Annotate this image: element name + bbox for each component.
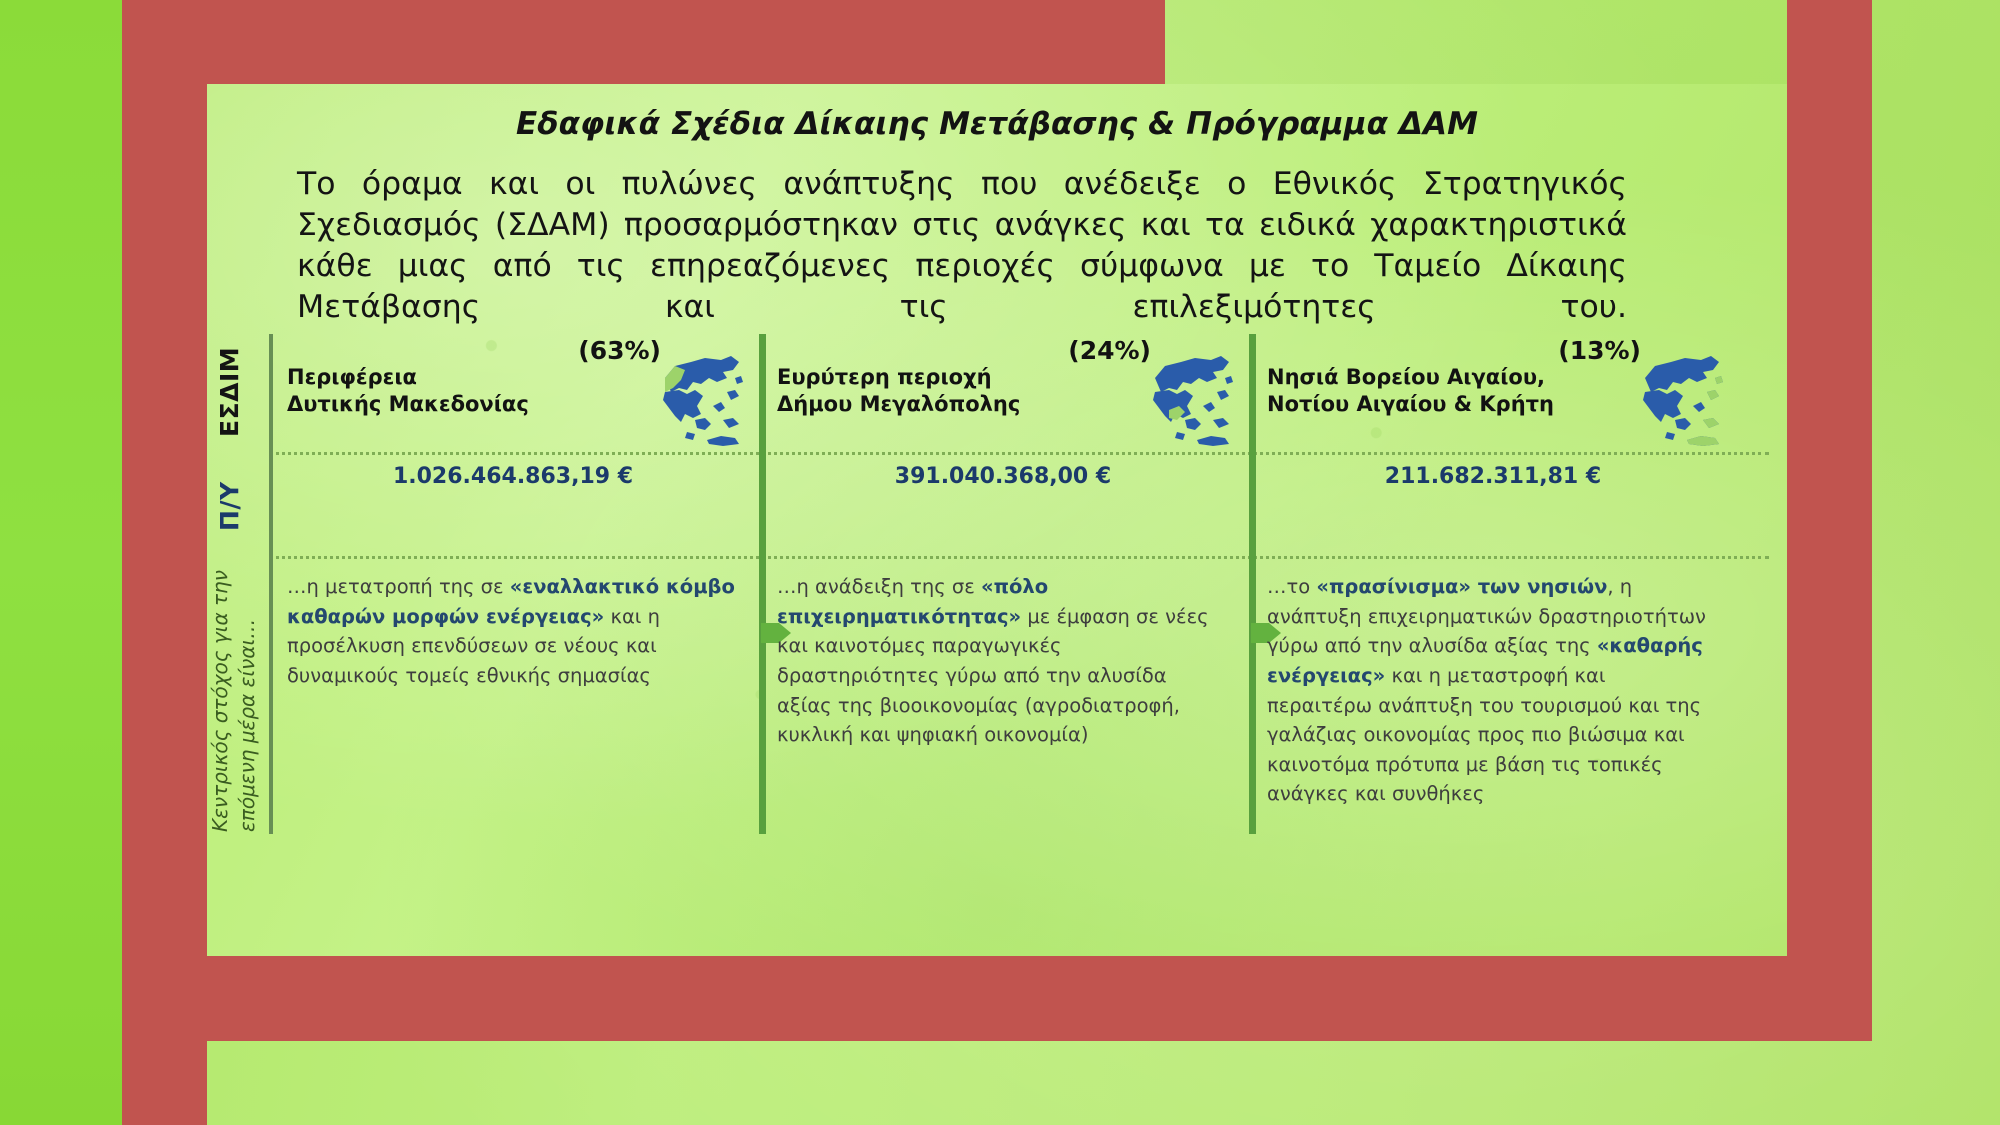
column-budget-2: 391.040.368,00 € [777, 464, 1229, 489]
column-divider-1 [269, 334, 273, 834]
column-header-1: Περιφέρεια Δυτικής Μακεδονίας (63%) [287, 342, 739, 452]
column-header-2: Ευρύτερη περιοχή Δήμου Μεγαλόπολης (24%) [777, 342, 1229, 452]
column-title-2: Ευρύτερη περιοχή Δήμου Μεγαλόπολης [777, 364, 1067, 419]
row-separator-1 [269, 452, 1769, 455]
row-label-goal: Κεντρικός στόχος για την επόμενη μέρα εί… [207, 564, 277, 832]
body-text: …η μετατροπή της σε [287, 575, 510, 598]
greece-map-megalopoli-icon [1125, 348, 1235, 452]
row-label-budget: Π/Υ [215, 456, 269, 556]
column-header-3: Νησιά Βορείου Αιγαίου, Νοτίου Αιγαίου & … [1267, 342, 1719, 452]
greece-map-islands-icon [1615, 348, 1725, 452]
row-label-esdim: ΕΣΔΙΜ [215, 334, 269, 449]
column-divider-3 [1249, 334, 1256, 834]
page-title: Εδαφικά Σχέδια Δίκαιης Μετάβασης & Πρόγρ… [207, 106, 1787, 142]
frame-bar-right [1787, 0, 1872, 1041]
column-divider-2 [759, 334, 766, 834]
row-separator-2 [269, 556, 1769, 559]
frame-bar-bottom [122, 956, 1872, 1041]
greece-map-west-macedonia-icon [635, 348, 745, 452]
column-title-3: Νησιά Βορείου Αιγαίου, Νοτίου Αιγαίου & … [1267, 364, 1557, 419]
body-text: …το [1267, 575, 1316, 598]
column-title-1: Περιφέρεια Δυτικής Μακεδονίας [287, 364, 577, 419]
column-body-2: …η ανάδειξη της σε «πόλο επιχειρηματικότ… [777, 572, 1225, 750]
slide-content: Εδαφικά Σχέδια Δίκαιης Μετάβασης & Πρόγρ… [207, 84, 1787, 956]
column-body-3: …το «πρασίνισμα» των νησιών, η ανάπτυξη … [1267, 572, 1715, 809]
frame-bar-top [122, 0, 1165, 84]
intro-paragraph: Το όραμα και οι πυλώνες ανάπτυξης που αν… [297, 164, 1627, 369]
left-green-band [0, 0, 122, 1125]
body-text: …η ανάδειξη της σε [777, 575, 981, 598]
column-body-1: …η μετατροπή της σε «εναλλακτικό κόμβο κ… [287, 572, 735, 691]
column-budget-3: 211.682.311,81 € [1267, 464, 1719, 489]
column-budget-1: 1.026.464.863,19 € [287, 464, 739, 489]
body-highlight: «πρασίνισμα» των νησιών [1316, 575, 1607, 598]
